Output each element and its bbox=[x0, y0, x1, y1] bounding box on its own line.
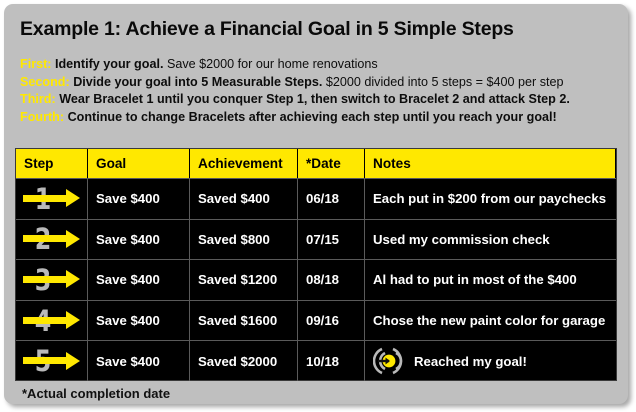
cell-goal: Save $400 bbox=[88, 301, 190, 341]
bullet-item-third: Third: Wear Bracelet 1 until you conquer… bbox=[20, 91, 620, 109]
arrow-head bbox=[66, 230, 80, 248]
cell-step: 1 bbox=[16, 179, 88, 219]
arrow-shaft bbox=[23, 276, 69, 283]
table-row: 4 Save $400 Saved $1600 09/16 Chose the … bbox=[16, 300, 616, 341]
step-arrow-icon-5: 5 bbox=[21, 344, 83, 378]
arrow-head bbox=[66, 189, 80, 207]
step-arrow-icon-3: 3 bbox=[21, 263, 83, 297]
cell-date: 06/18 bbox=[298, 179, 365, 219]
arrow-shaft bbox=[23, 357, 69, 364]
cell-notes: Each put in $200 from our paychecks bbox=[365, 179, 616, 219]
table-row: 3 Save $400 Saved $1200 08/18 Al had to … bbox=[16, 259, 616, 300]
step-arrow-icon-2: 2 bbox=[21, 222, 83, 256]
arrow-head bbox=[66, 311, 80, 329]
cell-goal: Save $400 bbox=[88, 220, 190, 260]
bullet-label-first: First: bbox=[20, 57, 51, 71]
bullet-bold-first: Identify your goal. bbox=[55, 57, 163, 71]
cell-notes-text: Reached my goal! bbox=[414, 354, 527, 369]
arrow-shaft bbox=[23, 317, 69, 324]
bullet-bold-second: Divide your goal into 5 Measurable Steps… bbox=[73, 75, 322, 89]
column-header-step: Step bbox=[16, 149, 88, 178]
bullet-item-first: First: Identify your goal. Save $2000 fo… bbox=[20, 56, 620, 74]
table-row: 2 Save $400 Saved $800 07/15 Used my com… bbox=[16, 219, 616, 260]
table-row: 1 Save $400 Saved $400 06/18 Each put in… bbox=[16, 178, 616, 219]
column-header-date: *Date bbox=[298, 149, 365, 178]
page-title: Example 1: Achieve a Financial Goal in 5… bbox=[20, 18, 514, 41]
cell-step: 2 bbox=[16, 220, 88, 260]
footnote: *Actual completion date bbox=[22, 386, 170, 401]
bullet-item-second: Second: Divide your goal into 5 Measurab… bbox=[20, 74, 620, 92]
cell-step: 5 bbox=[16, 341, 88, 381]
step-arrow-icon-1: 1 bbox=[21, 182, 83, 216]
step-arrow-icon-4: 4 bbox=[21, 304, 83, 338]
cell-achievement: Saved $2000 bbox=[190, 341, 298, 381]
bullet-rest-second: $2000 divided into 5 steps = $400 per st… bbox=[326, 75, 564, 89]
bullet-rest-first: Save $2000 for our home renovations bbox=[167, 57, 378, 71]
cell-achievement: Saved $400 bbox=[190, 179, 298, 219]
cell-notes: Al had to put in most of the $400 bbox=[365, 260, 616, 300]
table-row: 5 Save $400 Saved $2000 10/18 bbox=[16, 340, 616, 381]
bullet-label-second: Second: bbox=[20, 75, 70, 89]
cell-date: 10/18 bbox=[298, 341, 365, 381]
cell-date: 09/16 bbox=[298, 301, 365, 341]
bullet-label-third: Third: bbox=[20, 92, 56, 106]
cell-date: 08/18 bbox=[298, 260, 365, 300]
arrow-head bbox=[66, 270, 80, 288]
cell-goal: Save $400 bbox=[88, 179, 190, 219]
cell-achievement: Saved $800 bbox=[190, 220, 298, 260]
column-header-goal: Goal bbox=[88, 149, 190, 178]
cell-goal: Save $400 bbox=[88, 341, 190, 381]
cell-step: 4 bbox=[16, 301, 88, 341]
cell-step: 3 bbox=[16, 260, 88, 300]
arrow-shaft bbox=[23, 195, 69, 202]
bullseye-icon bbox=[373, 346, 407, 376]
bullet-bold-third: Wear Bracelet 1 until you conquer Step 1… bbox=[59, 92, 570, 106]
column-header-achievement: Achievement bbox=[190, 149, 298, 178]
arrow-head bbox=[66, 352, 80, 370]
bullet-label-fourth: Fourth: bbox=[20, 110, 64, 124]
table-header-row: Step Goal Achievement *Date Notes bbox=[16, 149, 616, 178]
slide-card: Example 1: Achieve a Financial Goal in 5… bbox=[4, 4, 628, 404]
cell-goal: Save $400 bbox=[88, 260, 190, 300]
bullet-bold-fourth: Continue to change Bracelets after achie… bbox=[68, 110, 557, 124]
progress-table: Step Goal Achievement *Date Notes 1 Save… bbox=[15, 148, 617, 381]
cell-achievement: Saved $1600 bbox=[190, 301, 298, 341]
bullet-list: First: Identify your goal. Save $2000 fo… bbox=[20, 56, 620, 126]
cell-date: 07/15 bbox=[298, 220, 365, 260]
column-header-notes: Notes bbox=[365, 149, 616, 178]
cell-notes: Chose the new paint color for garage bbox=[365, 301, 616, 341]
bullet-item-fourth: Fourth: Continue to change Bracelets aft… bbox=[20, 109, 620, 127]
cell-notes: Reached my goal! bbox=[365, 341, 616, 381]
cell-notes: Used my commission check bbox=[365, 220, 616, 260]
arrow-shaft bbox=[23, 235, 69, 242]
cell-achievement: Saved $1200 bbox=[190, 260, 298, 300]
